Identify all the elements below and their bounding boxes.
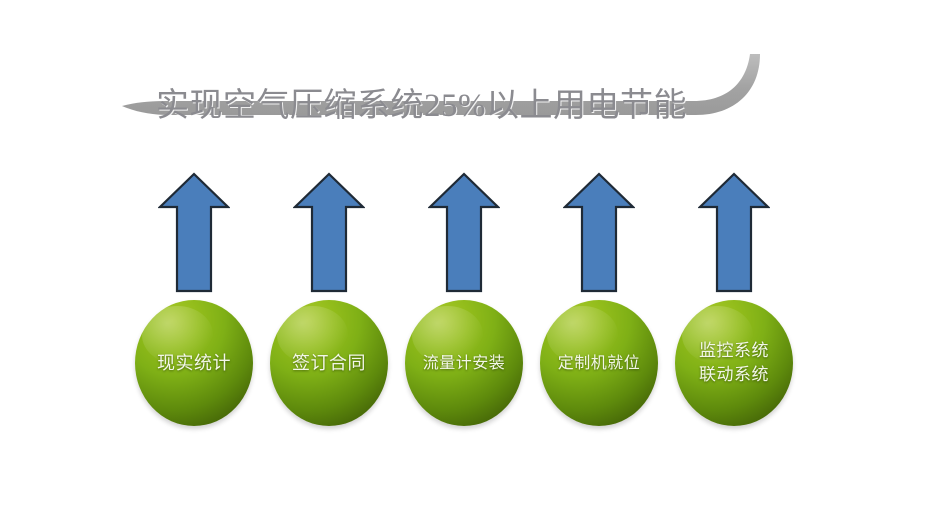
up-arrow-icon: [563, 170, 635, 295]
page-title: 实现空气压缩系统25%以上用电节能: [156, 82, 756, 130]
node-circle: [270, 300, 388, 426]
process-node-3[interactable]: 流量计安装: [405, 300, 523, 426]
process-node-2[interactable]: 签订合同: [270, 300, 388, 426]
node-circle: [540, 300, 658, 426]
up-arrow-icon: [293, 170, 365, 295]
up-arrow-icon: [428, 170, 500, 295]
slide-canvas: 实现空气压缩系统25%以上用电节能 现实统计 签订合同 流量计安装: [0, 0, 945, 529]
up-arrow-icon: [698, 170, 770, 295]
process-node-5[interactable]: 监控系统 联动系统: [675, 300, 793, 426]
node-circle: [675, 300, 793, 426]
up-arrow-icon: [158, 170, 230, 295]
process-node-4[interactable]: 定制机就位: [540, 300, 658, 426]
title-banner: 实现空气压缩系统25%以上用电节能: [118, 36, 778, 141]
process-node-1[interactable]: 现实统计: [135, 300, 253, 426]
node-circle: [405, 300, 523, 426]
node-circle: [135, 300, 253, 426]
